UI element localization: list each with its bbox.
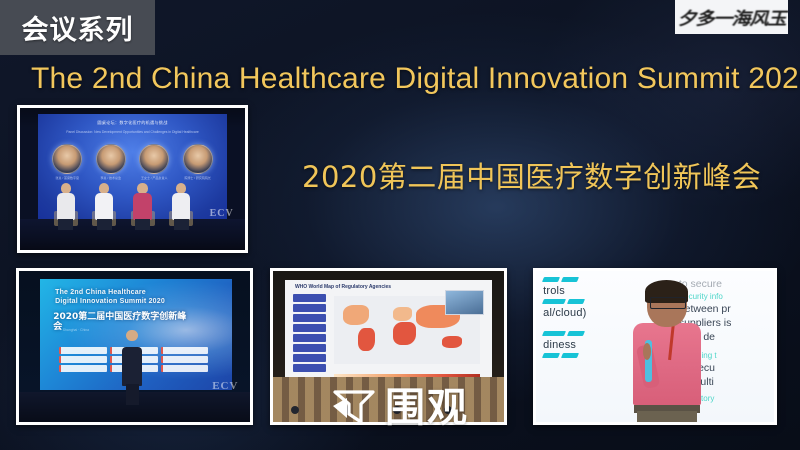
panelist [167,173,196,230]
speaker-legs [126,384,139,405]
bullet-icon-row [543,331,624,336]
bullet-dash-icon [561,277,579,282]
bullet-dash-icon [567,331,585,336]
panel-slide-title: 圆桌论坛：数字化医疗的机遇与挑战 [49,120,215,126]
avatar [183,144,213,174]
slide-left-word: trols [543,284,624,299]
standing-speaker-photo: trols al/cloud) diness to secure [533,268,777,425]
audience-head [291,406,299,414]
audience-seating [273,377,504,422]
panelist-torso [57,193,75,220]
speaker-pants [637,411,697,422]
channel-logo-watermark: 夕多一海风玉 [675,0,788,34]
avatar [139,144,169,174]
avatar [52,144,82,174]
bullet-dash-icon [542,277,560,282]
panelist [90,173,119,230]
slide-nav-item [293,334,326,342]
speaker-figure [631,280,702,422]
audience-head [342,406,350,414]
slide-nav-item [293,294,326,302]
projection-screen: WHO World Map of Regulatory Agencies [285,280,493,383]
sponsor-chip [161,365,209,372]
channel-logo-text: 夕多一海风玉 [677,5,785,30]
slide-nav-item [293,304,326,312]
bullet-dash-icon [542,353,560,358]
slide-title: WHO World Map of Regulatory Agencies [295,284,391,291]
bullet-dash-icon [542,299,566,304]
speaker-hand [643,343,652,360]
presentation-slide-photo: WHO World Map of Regulatory Agencies [270,268,507,425]
glasses-icon [650,297,686,309]
map-region-europe [393,307,412,321]
sponsor-chip [161,347,209,354]
map-region-north-america [343,305,369,325]
slide-nav-item [293,354,326,362]
panelist-row [52,173,196,230]
slide-nav-item [293,324,326,332]
slide-left-word: al/cloud) [543,306,624,321]
slide-nav-item [293,364,326,372]
slide-nav-item [293,314,326,322]
series-badge: 会议系列 [0,0,155,55]
presenter-video-inset [445,290,484,315]
sponsor-chip [161,356,209,363]
slide-left-word: diness [543,338,624,353]
panelist [128,173,157,230]
keynote-speaker-figure [121,330,144,406]
map-region-south-america [358,328,375,351]
slide-nav-list [293,294,326,372]
panelist-legs [97,219,112,230]
map-region-africa [393,322,416,345]
ecv-logo: ECV [210,208,234,219]
audience-head [444,406,452,414]
bullet-dash-icon [567,299,585,304]
panelist-legs [174,219,189,230]
panelist-torso [172,193,190,220]
bullet-dash-icon [561,353,579,358]
sponsor-chip [59,347,107,354]
slide-nav-item [293,344,326,352]
panel-discussion-photo: 圆桌论坛：数字化医疗的机遇与挑战 Panel Discussion: New D… [17,105,248,253]
backdrop-line-4: Shanghai · China [63,328,159,333]
avatar [96,144,126,174]
slide-left-column: trols al/cloud) diness [543,277,624,360]
backdrop-line-2: Digital Innovation Summit 2020 [55,298,185,307]
series-badge-label: 会议系列 [22,8,134,47]
audience-head [393,406,401,414]
backdrop-line-1: The 2nd China Healthcare [55,289,185,298]
panel-slide-subtitle: Panel Discussion: New Development Opport… [46,130,220,135]
speaker-body [122,347,141,386]
panelist-legs [135,219,150,230]
bullet-icon-row [543,299,624,304]
sponsor-chip [59,356,107,363]
keynote-speaker-photo: The 2nd China Healthcare Digital Innovat… [16,268,253,425]
sponsor-chip [59,365,107,372]
bullet-icon-row [543,277,624,282]
panelist-torso [95,193,113,220]
page-subtitle: 2020第二届中国医疗数字创新峰会 [302,160,761,194]
video-frame: 会议系列 夕多一海风玉 The 2nd China Healthcare Dig… [0,0,800,450]
panelist-torso [133,193,151,220]
bullet-icon-row [543,353,624,358]
map-region-oceania [442,336,462,348]
page-title: The 2nd China Healthcare Digital Innovat… [31,62,773,96]
panelist-legs [58,219,73,230]
speaker-head [126,330,138,342]
panelist [52,173,81,230]
bullet-dash-icon [542,331,566,336]
ecv-logo: ECV [212,380,238,392]
